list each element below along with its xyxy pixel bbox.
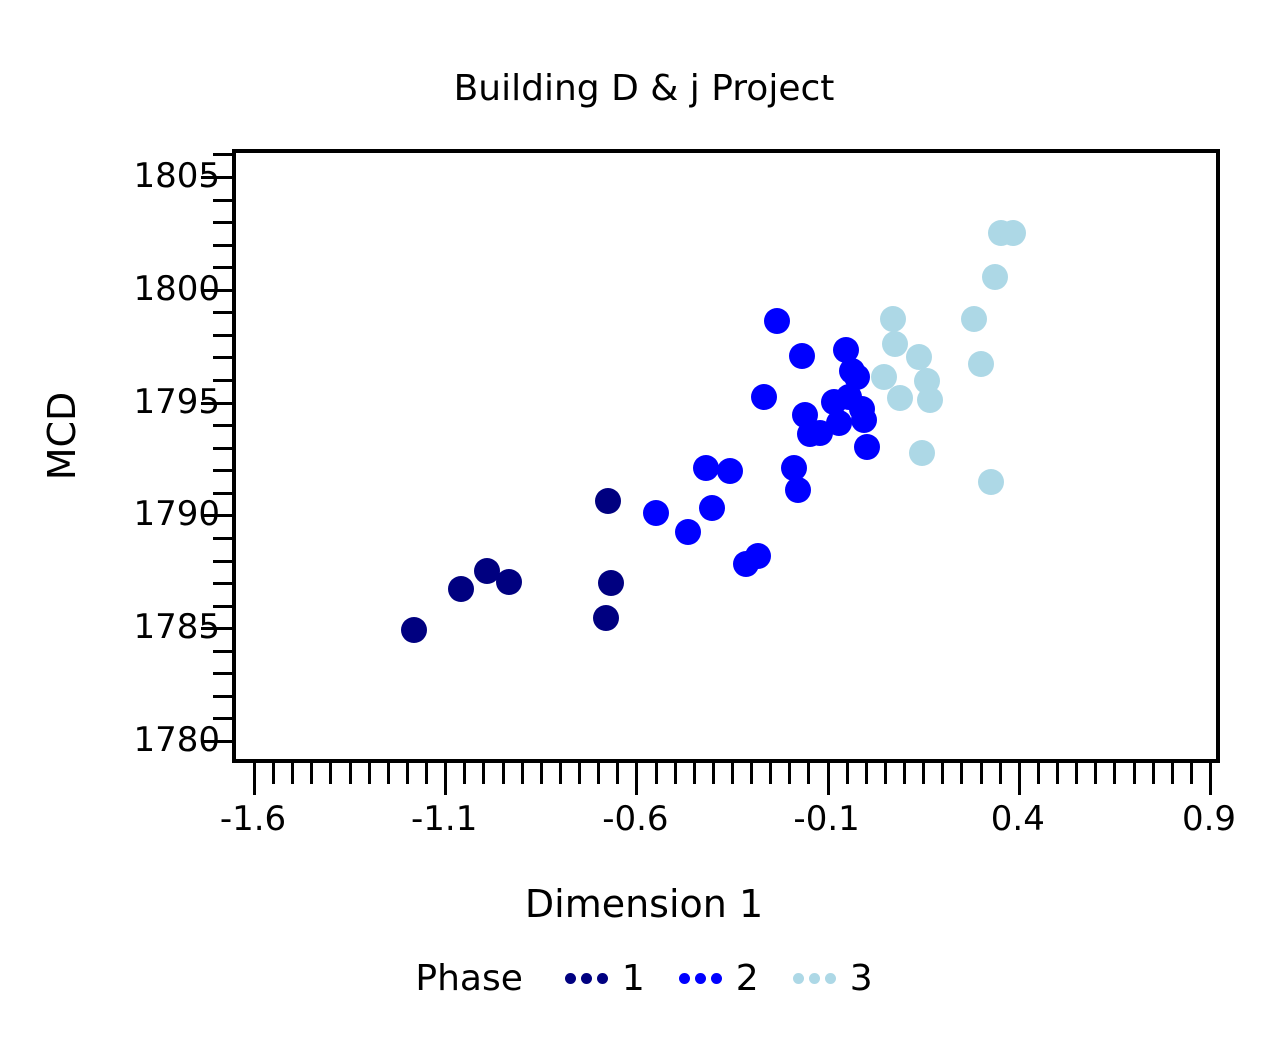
- x-axis-major-tick: [1018, 763, 1021, 795]
- x-axis-minor-tick: [521, 763, 524, 784]
- x-axis-major-tick: [1209, 763, 1212, 795]
- x-axis-minor-tick: [1133, 763, 1136, 784]
- y-axis-minor-tick: [213, 334, 232, 337]
- scatter-point: [909, 440, 935, 466]
- x-axis-minor-tick: [1056, 763, 1059, 784]
- y-axis-tick-label: 1790: [60, 497, 220, 531]
- y-axis-minor-tick: [213, 199, 232, 202]
- x-axis-minor-tick: [750, 763, 753, 784]
- y-axis-minor-tick: [213, 560, 232, 563]
- x-axis-minor-tick: [1152, 763, 1155, 784]
- plot-area: [232, 149, 1220, 763]
- scatter-point: [1000, 220, 1026, 246]
- x-axis-minor-tick: [788, 763, 791, 784]
- scatter-point: [906, 344, 932, 370]
- scatter-point: [887, 385, 913, 411]
- y-axis-tick-label: 1795: [60, 385, 220, 419]
- x-axis-minor-tick: [406, 763, 409, 784]
- x-axis-minor-tick: [329, 763, 332, 784]
- x-axis-minor-tick: [616, 763, 619, 784]
- y-axis-minor-tick: [213, 469, 232, 472]
- y-axis-tick-label: 1785: [60, 610, 220, 644]
- scatter-point: [448, 576, 474, 602]
- scatter-point: [699, 495, 725, 521]
- x-axis-minor-tick: [769, 763, 772, 784]
- scatter-point: [593, 605, 619, 631]
- x-axis-major-tick: [635, 763, 638, 795]
- chart-figure: Building D & j Project MCD 1805180017951…: [0, 0, 1288, 1040]
- x-axis-minor-tick: [559, 763, 562, 784]
- scatter-point: [961, 306, 987, 332]
- x-axis-minor-tick: [291, 763, 294, 784]
- x-axis-minor-tick: [540, 763, 543, 784]
- legend: Phase 123: [0, 958, 1288, 999]
- x-axis-minor-tick: [674, 763, 677, 784]
- x-axis-minor-tick: [502, 763, 505, 784]
- x-axis-tick-label: -0.6: [545, 802, 725, 836]
- x-axis-tick-label: -0.1: [737, 802, 917, 836]
- y-axis-minor-tick: [213, 311, 232, 314]
- x-axis-tick-label: 0.4: [928, 802, 1108, 836]
- x-axis-minor-tick: [980, 763, 983, 784]
- x-axis-minor-tick: [425, 763, 428, 784]
- scatter-point: [745, 543, 771, 569]
- x-axis-minor-tick: [272, 763, 275, 784]
- y-axis-minor-tick: [213, 356, 232, 359]
- y-axis-tick-label: 1780: [60, 723, 220, 757]
- y-axis-minor-tick: [213, 424, 232, 427]
- x-axis-minor-tick: [482, 763, 485, 784]
- x-axis-minor-tick: [999, 763, 1002, 784]
- x-axis-minor-tick: [463, 763, 466, 784]
- scatter-point: [880, 306, 906, 332]
- x-axis-minor-tick: [731, 763, 734, 784]
- x-axis-title: Dimension 1: [0, 882, 1288, 926]
- scatter-point: [675, 519, 701, 545]
- x-axis-minor-tick: [310, 763, 313, 784]
- y-axis-tick-label: 1805: [60, 159, 220, 193]
- scatter-point: [717, 458, 743, 484]
- scatter-point: [751, 384, 777, 410]
- y-axis-minor-tick: [213, 582, 232, 585]
- x-axis-major-tick: [827, 763, 830, 795]
- scatter-point: [978, 469, 1004, 495]
- scatter-point: [496, 569, 522, 595]
- x-axis-minor-tick: [960, 763, 963, 784]
- scatter-point: [785, 477, 811, 503]
- x-axis-minor-tick: [1037, 763, 1040, 784]
- x-axis-minor-tick: [712, 763, 715, 784]
- y-axis-minor-tick: [213, 447, 232, 450]
- y-axis-tick-label: 1800: [60, 272, 220, 306]
- y-axis-minor-tick: [213, 244, 232, 247]
- legend-entry[interactable]: 1: [565, 958, 645, 999]
- scatter-point: [826, 410, 852, 436]
- x-axis-tick-label: 0.9: [1119, 802, 1288, 836]
- scatter-point: [598, 570, 624, 596]
- x-axis-minor-tick: [1190, 763, 1193, 784]
- y-axis-minor-tick: [213, 695, 232, 698]
- scatter-point: [982, 264, 1008, 290]
- x-axis-minor-tick: [884, 763, 887, 784]
- scatter-point: [917, 387, 943, 413]
- legend-label: 3: [850, 958, 873, 999]
- chart-title: Building D & j Project: [0, 68, 1288, 109]
- scatter-point: [401, 617, 427, 643]
- x-axis-minor-tick: [368, 763, 371, 784]
- scatter-point: [693, 455, 719, 481]
- legend-label: 2: [736, 958, 759, 999]
- legend-entry[interactable]: 3: [793, 958, 873, 999]
- x-axis-minor-tick: [693, 763, 696, 784]
- legend-swatch-dots-icon: [565, 973, 608, 984]
- legend-label: 1: [622, 958, 645, 999]
- x-axis-tick-label: -1.6: [163, 802, 343, 836]
- x-axis-minor-tick: [578, 763, 581, 784]
- scatter-point: [764, 308, 790, 334]
- scatter-point: [882, 331, 908, 357]
- x-axis-minor-tick: [597, 763, 600, 784]
- y-axis-minor-tick: [213, 672, 232, 675]
- x-axis-minor-tick: [865, 763, 868, 784]
- legend-swatch-dots-icon: [679, 973, 722, 984]
- scatter-point: [851, 407, 877, 433]
- x-axis-minor-tick: [655, 763, 658, 784]
- y-axis-minor-tick: [213, 650, 232, 653]
- x-axis-minor-tick: [1075, 763, 1078, 784]
- y-axis-minor-tick: [213, 221, 232, 224]
- scatter-point: [595, 488, 621, 514]
- x-axis-minor-tick: [922, 763, 925, 784]
- x-axis-minor-tick: [1113, 763, 1116, 784]
- legend-title: Phase: [415, 958, 523, 999]
- x-axis-major-tick: [444, 763, 447, 795]
- x-axis-tick-label: -1.1: [354, 802, 534, 836]
- legend-swatch-dots-icon: [793, 973, 836, 984]
- scatter-point: [968, 351, 994, 377]
- y-axis-title: MCD: [40, 356, 84, 516]
- x-axis-minor-tick: [846, 763, 849, 784]
- x-axis-minor-tick: [903, 763, 906, 784]
- scatter-point: [854, 434, 880, 460]
- x-axis-minor-tick: [349, 763, 352, 784]
- legend-entry[interactable]: 2: [679, 958, 759, 999]
- x-axis-minor-tick: [1094, 763, 1097, 784]
- scatter-point: [643, 500, 669, 526]
- x-axis-minor-tick: [387, 763, 390, 784]
- x-axis-minor-tick: [807, 763, 810, 784]
- y-axis-minor-tick: [213, 537, 232, 540]
- x-axis-minor-tick: [1171, 763, 1174, 784]
- scatter-point: [789, 343, 815, 369]
- x-axis-major-tick: [253, 763, 256, 795]
- legend-entries: 123: [565, 958, 873, 999]
- scatter-point: [844, 364, 870, 390]
- x-axis-minor-tick: [941, 763, 944, 784]
